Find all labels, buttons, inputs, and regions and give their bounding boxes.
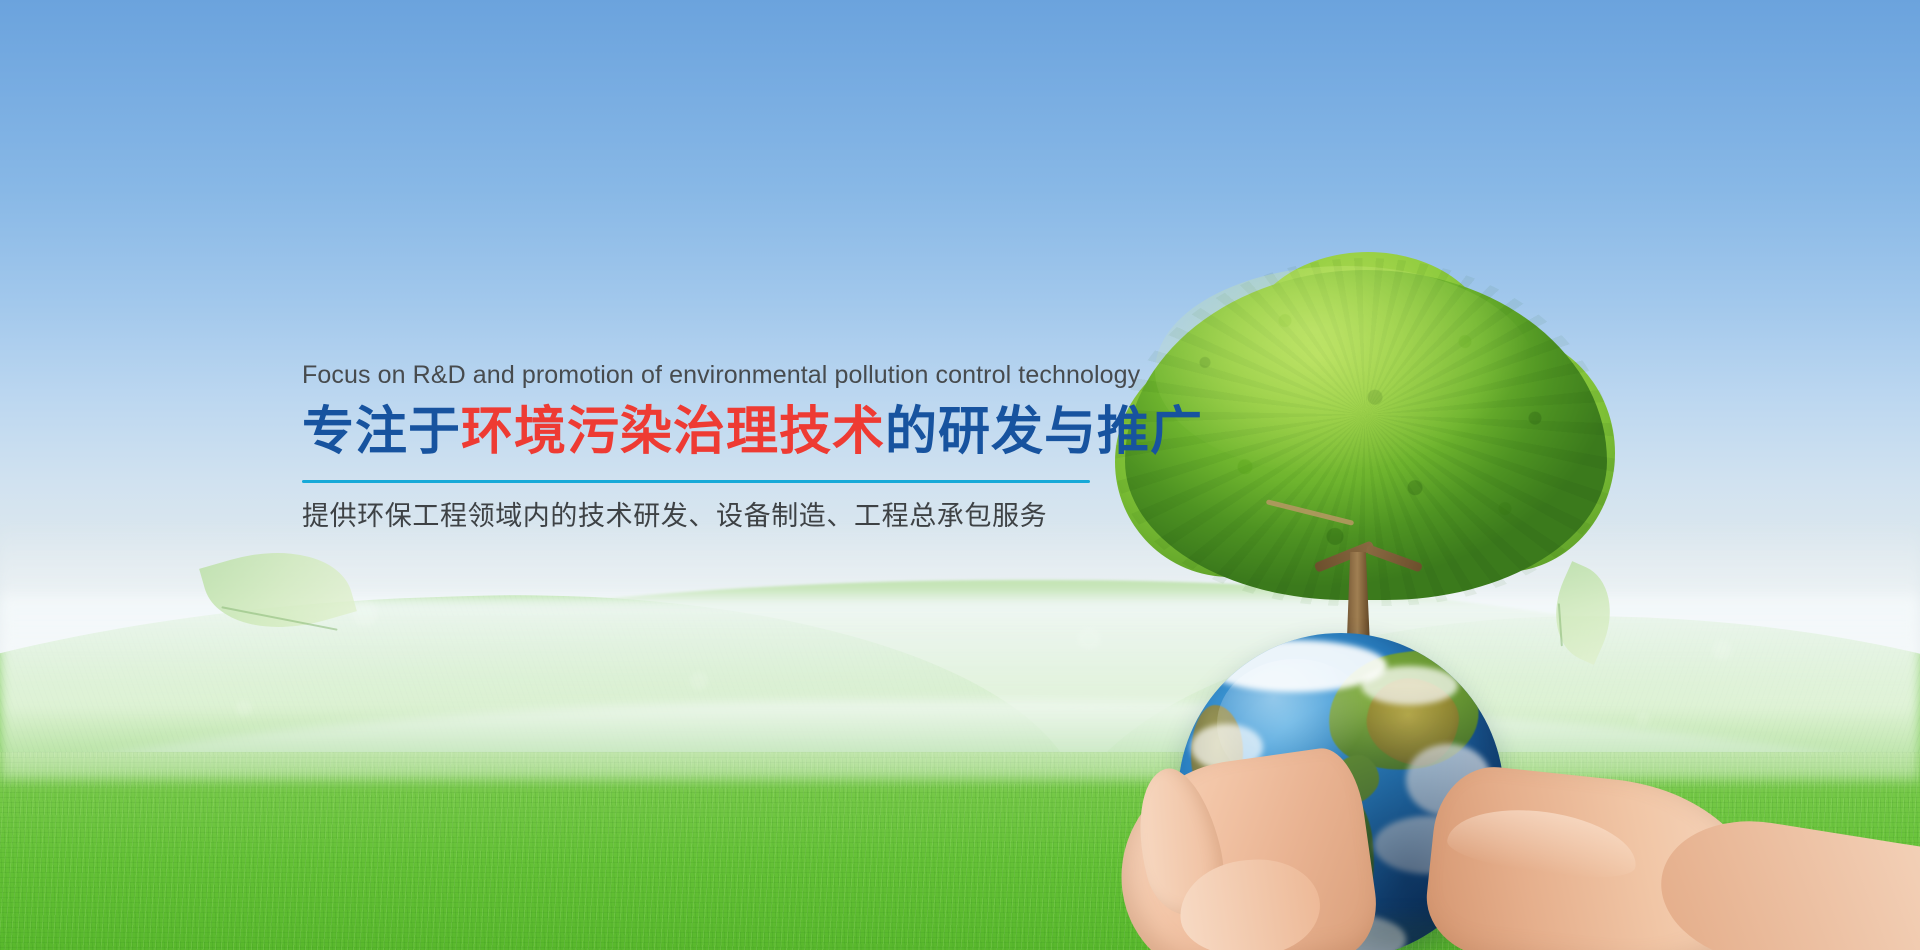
bokeh-spec [1712, 640, 1732, 660]
hero-copy-block: Focus on R&D and promotion of environmen… [302, 360, 1122, 534]
headline-suffix: 的研发与推广 [885, 402, 1203, 462]
bokeh-spec [236, 700, 252, 716]
hero-tagline-english: Focus on R&D and promotion of environmen… [302, 360, 1122, 390]
hero-subline: 提供环保工程领域内的技术研发、设备制造、工程总承包服务 [302, 500, 1122, 534]
canopy-highlight [1155, 266, 1535, 476]
bokeh-spec [1078, 628, 1100, 650]
bokeh-spec [690, 672, 708, 690]
bokeh-spec [352, 600, 378, 626]
headline-highlight: 环境污染治理技术 [461, 402, 885, 462]
hero-headline: 专注于环境污染治理技术的研发与推广 [302, 402, 1122, 463]
headline-prefix: 专注于 [302, 402, 461, 462]
headline-divider [302, 480, 1090, 483]
green-tree [1115, 252, 1615, 672]
hero-banner: Focus on R&D and promotion of environmen… [0, 0, 1920, 950]
bokeh-spec [1636, 712, 1650, 726]
